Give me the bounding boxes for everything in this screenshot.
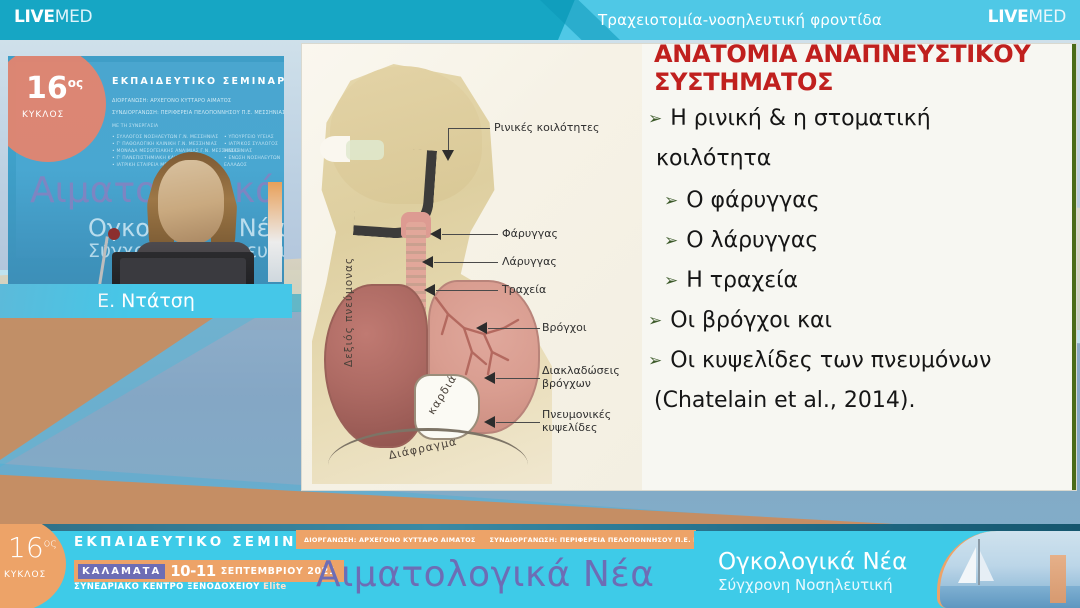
microphone-icon (108, 228, 120, 240)
footer-illustration-sail-2 (980, 551, 994, 581)
footer-illustration-sail-1 (958, 547, 976, 583)
footer-right-title: Ογκολογικά Νέα (718, 550, 907, 575)
citation-label: (Chatelain et al., 2014). (654, 388, 915, 414)
leader-line-larynx (434, 262, 498, 263)
list-item-label: Ο λάρυγγας (686, 228, 818, 254)
speaker-video-tile[interactable]: 16ος ΚΥΚΛΟΣ ΕΚΠΑΙΔΕΥΤΙΚΟ ΣΕΜΙΝΑΡΙΟ ΔΙΟΡΓ… (8, 56, 284, 284)
conference-footer-banner: 16ος ΚΥΚΛΟΣ ΕΚΠΑΙΔΕΥΤΙΚΟ ΣΕΜΙΝΑΡΙΟ ΚΑΛΑΜ… (0, 524, 1080, 608)
arrow-bullet-icon: ➢ (664, 188, 678, 214)
footer-organizer: ΔΙΟΡΓΑΝΩΣΗ: ΑΡΧΕΓΟΝΟ ΚΥΤΤΑΡΟ ΑΙΜΑΤΟΣ (304, 536, 476, 544)
poster-coorganizer-line: ΣΥΝΔΙΟΡΓΑΝΩΣΗ: ΠΕΡΙΦΕΡΕΙΑ ΠΕΛΟΠΟΝΝΗΣΟΥ Π… (112, 110, 284, 116)
laptop (112, 252, 254, 284)
list-item: ➢ Ο λάρυγγας (648, 228, 1068, 254)
arrow-larynx (422, 256, 433, 268)
leader-line-trachea (436, 290, 498, 291)
footer-organizers-bar: ΔΙΟΡΓΑΝΩΣΗ: ΑΡΧΕΓΟΝΟ ΚΥΤΤΑΡΟ ΑΙΜΑΤΟΣ ΣΥΝ… (296, 530, 696, 549)
list-item: ➢ Η ρινική & η στοματική (648, 106, 1068, 132)
arrow-branches (484, 372, 495, 384)
laptop-screen (120, 258, 246, 284)
poster-cycle-word: ΚΥΚΛΟΣ (22, 110, 64, 120)
list-item: ➢ Οι κυψελίδες των πνευμόνων (648, 348, 1068, 374)
label-nasal-cavities: Ρινικές κοιλότητες (494, 121, 599, 134)
list-item-label: Οι κυψελίδες των πνευμόνων (670, 348, 991, 374)
livemed-logo-right-bold: LIVE (988, 7, 1029, 27)
list-item: ➢ Ο φάρυγγας (648, 188, 1068, 214)
respiratory-anatomy-diagram: καρδιά Διάφραγμα Δεξιός πνεύμονας Ρινικέ… (302, 44, 642, 490)
label-larynx: Λάρυγγας (502, 255, 557, 268)
footer-date-box: ΚΑΛΑΜΑΤΑ 10-11 ΣΕΠΤΕΜΒΡΙΟΥ 2021 (74, 560, 344, 582)
speaker-bar-shade (0, 284, 292, 318)
arrow-bronchi (476, 322, 487, 334)
livemed-logo-right-light: MED (1028, 7, 1066, 27)
speaker-head (158, 160, 224, 244)
poster-cycle-sup: ος (68, 76, 83, 90)
livemed-logo-left-light: MED (55, 7, 93, 27)
poster-organizer-line: ΔΙΟΡΓΑΝΩΣΗ: ΑΡΧΕΓΟΝΟ ΚΥΤΤΑΡΟ ΑΙΜΑΤΟΣ (112, 98, 231, 104)
label-bronchial-branches: Διακλαδώσεις βρόγχων (542, 364, 620, 390)
footer-venue-hotel: Elite (263, 582, 286, 592)
footer-main-title: Αιματολογικά Νέα (316, 554, 654, 595)
arrow-pharynx (430, 228, 441, 240)
arrow-bullet-icon: ➢ (664, 228, 678, 254)
arrow-bullet-icon: ➢ (648, 106, 662, 132)
label-alveoli: Πνευμονικές κυψελίδες (542, 408, 611, 434)
footer-illustration-tower (1050, 555, 1066, 603)
leader-line-pharynx (442, 234, 498, 235)
diagram-right-lung-label: Δεξιός πνεύμονας (343, 257, 355, 367)
livemed-logo-right[interactable]: LIVEMED (988, 9, 1066, 26)
webinar-player: LIVEMED Τραχειοτομία-νοσηλευτική φροντίδ… (0, 0, 1080, 608)
footer-city: ΚΑΛΑΜΑΤΑ (78, 564, 165, 579)
poster-auspices-list: • ΥΠΟΥΡΓΕΙΟ ΥΓΕΙΑΣ • ΙΑΤΡΙΚΟΣ ΣΥΛΛΟΓΟΣ Μ… (224, 134, 284, 169)
label-trachea: Τραχεία (502, 283, 546, 296)
citation: (Chatelain et al., 2014). (648, 388, 1068, 414)
leader-line-branches (496, 378, 540, 379)
arrow-bullet-icon: ➢ (664, 268, 678, 294)
poster-flag-strip (268, 182, 282, 282)
presentation-slide[interactable]: καρδιά Διάφραγμα Δεξιός πνεύμονας Ρινικέ… (302, 44, 1076, 490)
list-item-label: Η τραχεία (686, 268, 798, 294)
slide-title: ΑΝΑΤΟΜΙΑ ΑΝΑΠΝΕΥΣΤΙΚΟΥ ΣΥΣΤΗΜΑΤΟΣ (654, 44, 1062, 96)
leader-line-bronchi (488, 328, 540, 329)
list-item: κοιλότητα (648, 146, 1068, 172)
poster-cycle-number-value: 16 (26, 71, 68, 106)
arrow-bullet-icon: ➢ (648, 348, 662, 374)
livemed-logo-left[interactable]: LIVEMED (14, 9, 92, 26)
footer-days: 10-11 (170, 562, 215, 580)
footer-venue: ΣΥΝΕΔΡΙΑΚΟ ΚΕΝΤΡΟ ΞΕΝΟΔΟΧΕΙΟΥ Elite (74, 582, 287, 592)
arrow-nasal (442, 150, 454, 161)
footer-venue-prefix: ΣΥΝΕΔΡΙΑΚΟ ΚΕΝΤΡΟ ΞΕΝΟΔΟΧΕΙΟΥ (74, 582, 263, 592)
livemed-logo-left-bold: LIVE (14, 7, 55, 27)
arrow-bullet-icon: ➢ (648, 308, 662, 334)
slide-bullet-list: ➢ Η ρινική & η στοματική κοιλότητα ➢ Ο φ… (648, 106, 1068, 428)
list-item-label: κοιλότητα (656, 146, 771, 172)
arrow-trachea (424, 284, 435, 296)
leader-line-alveoli (496, 422, 540, 423)
poster-cycle-number: 16ος (26, 74, 83, 104)
list-item: ➢ Οι βρόγχοι και (648, 308, 1068, 334)
list-item-label: Ο φάρυγγας (686, 188, 819, 214)
footer-cycle-number: 16ος (8, 534, 57, 562)
leader-line-nasal (448, 128, 490, 129)
footer-cycle-number-value: 16 (8, 531, 44, 564)
poster-support-label: ΜΕ ΤΗ ΣΥΝΕΡΓΑΣΙΑ (112, 124, 158, 129)
session-title: Τραχειοτομία-νοσηλευτική φροντίδα (500, 0, 980, 40)
top-header-bar: LIVEMED Τραχειοτομία-νοσηλευτική φροντίδ… (0, 0, 1080, 40)
poster-seminar-title: ΕΚΠΑΙΔΕΥΤΙΚΟ ΣΕΜΙΝΑΡΙΟ (112, 76, 284, 87)
arrow-alveoli (484, 416, 495, 428)
label-bronchi: Βρόγχοι (542, 321, 587, 334)
list-item-label: Η ρινική & η στοματική (670, 106, 930, 132)
footer-cycle-word: ΚΥΚΛΟΣ (4, 570, 46, 580)
list-item: ➢ Η τραχεία (648, 268, 1068, 294)
label-pharynx: Φάρυγγας (502, 227, 558, 240)
list-item-label: Οι βρόγχοι και (670, 308, 832, 334)
footer-right-subtitle: Σύγχρονη Νοσηλευτική (718, 576, 893, 594)
footer-cycle-sup: ος (44, 537, 57, 550)
